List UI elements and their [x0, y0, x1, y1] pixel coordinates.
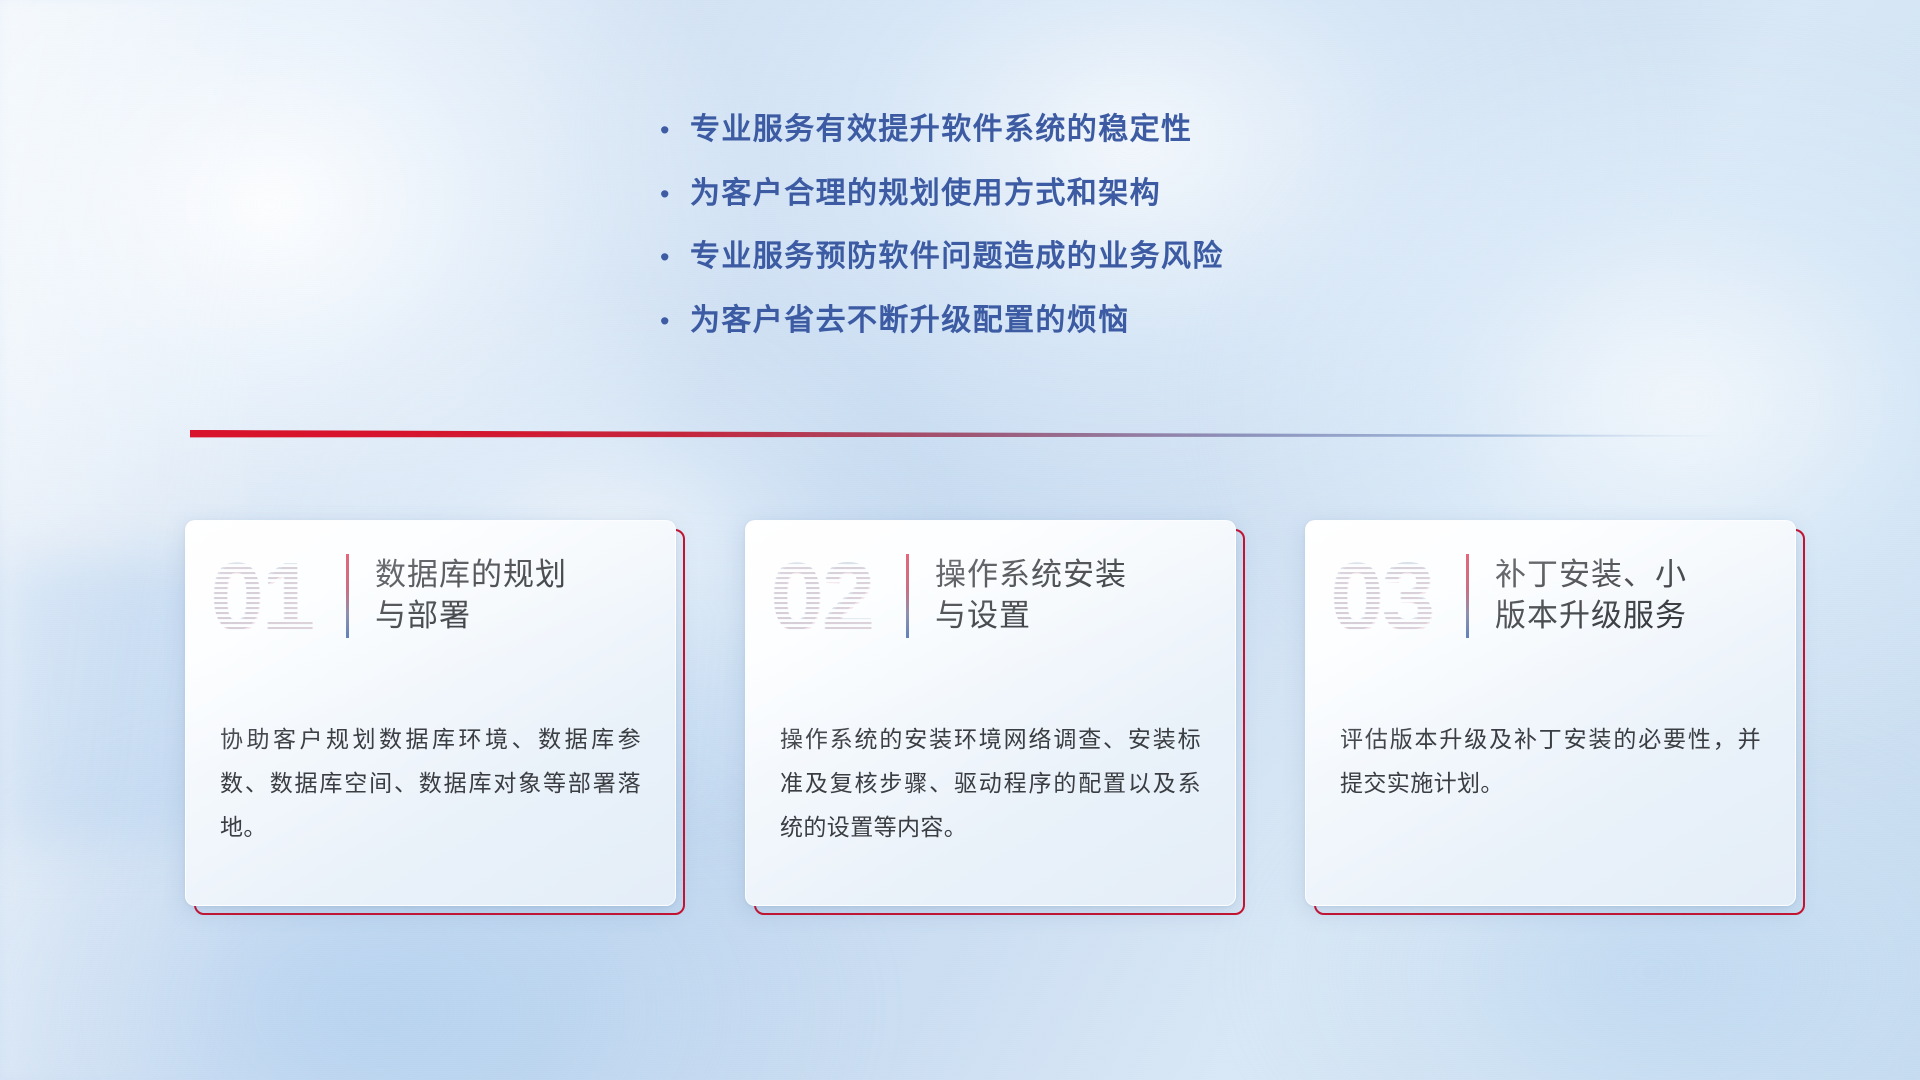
- card-surface: 01 01 数据库的规划 与部署 协助客户规划数据库环境、数据库参数、数据库空间…: [185, 520, 676, 906]
- bullet-item-label: 专业服务有效提升软件系统的稳定性: [690, 112, 1192, 149]
- list-item: • 为客户合理的规划使用方式和架构: [660, 176, 1420, 213]
- bullet-point-icon: •: [660, 308, 690, 335]
- card-number-watermark: 02 02: [770, 547, 898, 645]
- bullet-list: • 专业服务有效提升软件系统的稳定性 • 为客户合理的规划使用方式和架构 • 专…: [660, 112, 1420, 366]
- section-divider: [190, 428, 1730, 442]
- card-title-rule: [906, 554, 909, 638]
- card-header: 03 03 补丁安装、小 版本升级服务: [1306, 521, 1795, 671]
- card-surface: 02 02 操作系统安装 与设置 操作系统的安装环境网络调查、安装标准及复核步骤…: [745, 520, 1236, 906]
- card-description: 操作系统的安装环境网络调查、安装标准及复核步骤、驱动程序的配置以及系统的设置等内…: [746, 671, 1235, 849]
- feature-card-row: 01 01 数据库的规划 与部署 协助客户规划数据库环境、数据库参数、数据库空间…: [185, 520, 1785, 925]
- feature-card[interactable]: 03 03 补丁安装、小 版本升级服务 评估版本升级及补丁安装的必要性，并提交实…: [1305, 520, 1805, 915]
- feature-card[interactable]: 01 01 数据库的规划 与部署 协助客户规划数据库环境、数据库参数、数据库空间…: [185, 520, 685, 915]
- svg-text:01: 01: [211, 547, 314, 645]
- bullet-item-label: 为客户合理的规划使用方式和架构: [690, 176, 1161, 213]
- bullet-point-icon: •: [660, 117, 690, 144]
- card-title-rule: [346, 554, 349, 638]
- feature-card[interactable]: 02 02 操作系统安装 与设置 操作系统的安装环境网络调查、安装标准及复核步骤…: [745, 520, 1245, 915]
- card-number-watermark: 01 01: [210, 547, 338, 645]
- card-title: 补丁安装、小 版本升级服务: [1495, 555, 1687, 637]
- card-number-watermark: 03 03: [1330, 547, 1458, 645]
- card-title: 操作系统安装 与设置: [935, 555, 1127, 637]
- tapered-gradient-rule-icon: [190, 428, 1730, 442]
- bullet-item-label: 为客户省去不断升级配置的烦恼: [690, 303, 1130, 340]
- list-item: • 专业服务预防软件问题造成的业务风险: [660, 239, 1420, 276]
- card-title: 数据库的规划 与部署: [375, 555, 567, 637]
- svg-text:02: 02: [771, 547, 874, 645]
- list-item: • 专业服务有效提升软件系统的稳定性: [660, 112, 1420, 149]
- card-surface: 03 03 补丁安装、小 版本升级服务 评估版本升级及补丁安装的必要性，并提交实…: [1305, 520, 1796, 906]
- card-description: 协助客户规划数据库环境、数据库参数、数据库空间、数据库对象等部署落地。: [186, 671, 675, 849]
- card-description: 评估版本升级及补丁安装的必要性，并提交实施计划。: [1306, 671, 1795, 805]
- bullet-item-label: 专业服务预防软件问题造成的业务风险: [690, 239, 1224, 276]
- card-title-rule: [1466, 554, 1469, 638]
- svg-text:03: 03: [1331, 547, 1434, 645]
- bullet-point-icon: •: [660, 181, 690, 208]
- list-item: • 为客户省去不断升级配置的烦恼: [660, 303, 1420, 340]
- card-header: 01 01 数据库的规划 与部署: [186, 521, 675, 671]
- card-header: 02 02 操作系统安装 与设置: [746, 521, 1235, 671]
- bullet-point-icon: •: [660, 244, 690, 271]
